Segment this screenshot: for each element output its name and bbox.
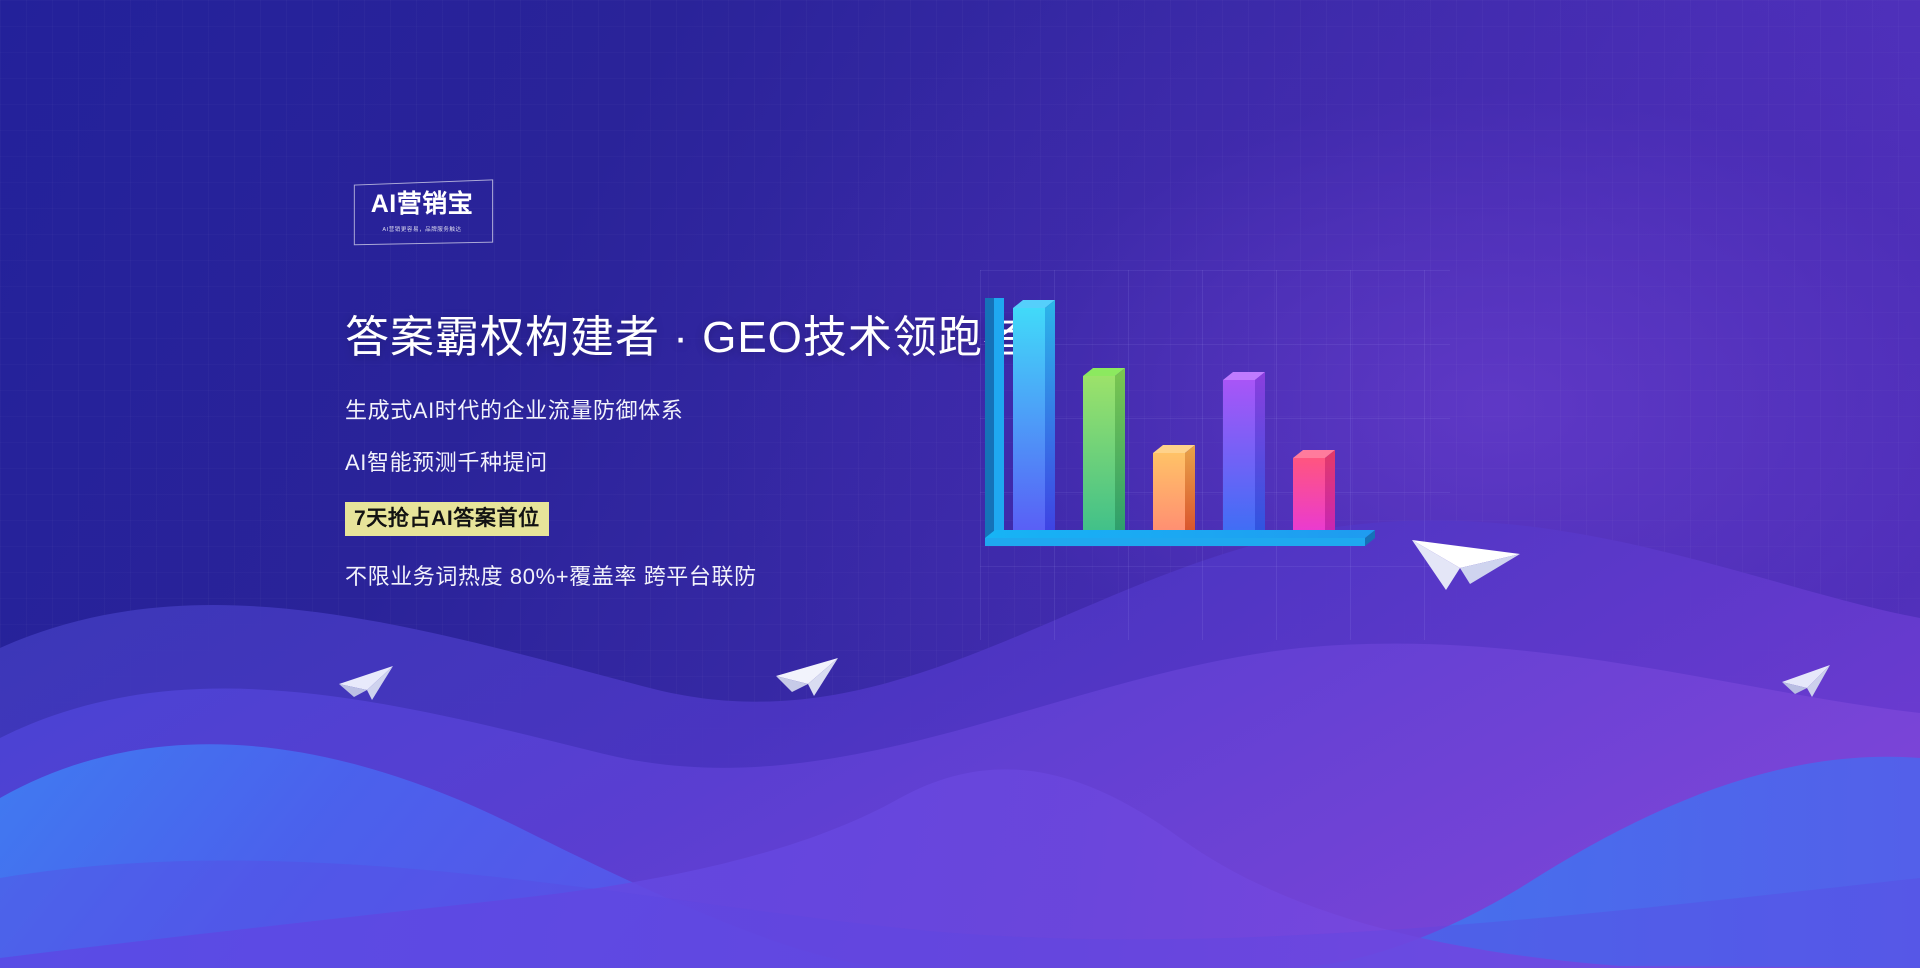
- chart-bar-2: [1083, 368, 1125, 538]
- hero-subline-3: 不限业务词热度 80%+覆盖率 跨平台联防: [345, 566, 1045, 588]
- brand-logo-tagline: AI营销更容易，品牌服务触达: [358, 224, 487, 232]
- chart-bar-5: [1293, 450, 1335, 538]
- chart-bar-4: [1223, 372, 1265, 538]
- hero-subline-2: AI智能预测千种提问: [345, 452, 1045, 474]
- brand-logo-text: AI营销宝: [352, 192, 492, 217]
- hero-banner: AI营销宝 AI营销更容易，品牌服务触达 答案霸权构建者 · GEO技术领跑者 …: [0, 0, 1920, 968]
- brand-logo[interactable]: AI营销宝 AI营销更容易，品牌服务触达: [352, 182, 492, 244]
- paper-plane-icon: [335, 660, 397, 706]
- hero-highlight-row: 7天抢占AI答案首位: [345, 502, 1045, 536]
- page-title: 答案霸权构建者 · GEO技术领跑者: [345, 312, 1045, 364]
- bar-chart-illustration: [985, 298, 1455, 668]
- chart-x-axis: [985, 530, 1375, 546]
- paper-plane-icon: [1778, 660, 1834, 702]
- paper-plane-icon: [770, 650, 842, 702]
- hero-copy: 答案霸权构建者 · GEO技术领跑者 生成式AI时代的企业流量防御体系 AI智能…: [345, 312, 1045, 588]
- paper-plane-icon: [1406, 512, 1526, 597]
- hero-subline-1: 生成式AI时代的企业流量防御体系: [345, 400, 1045, 422]
- chart-bar-3: [1153, 445, 1195, 538]
- hero-highlight-badge: 7天抢占AI答案首位: [345, 502, 549, 536]
- chart-y-axis: [985, 298, 1004, 546]
- chart-bar-1: [1013, 300, 1055, 538]
